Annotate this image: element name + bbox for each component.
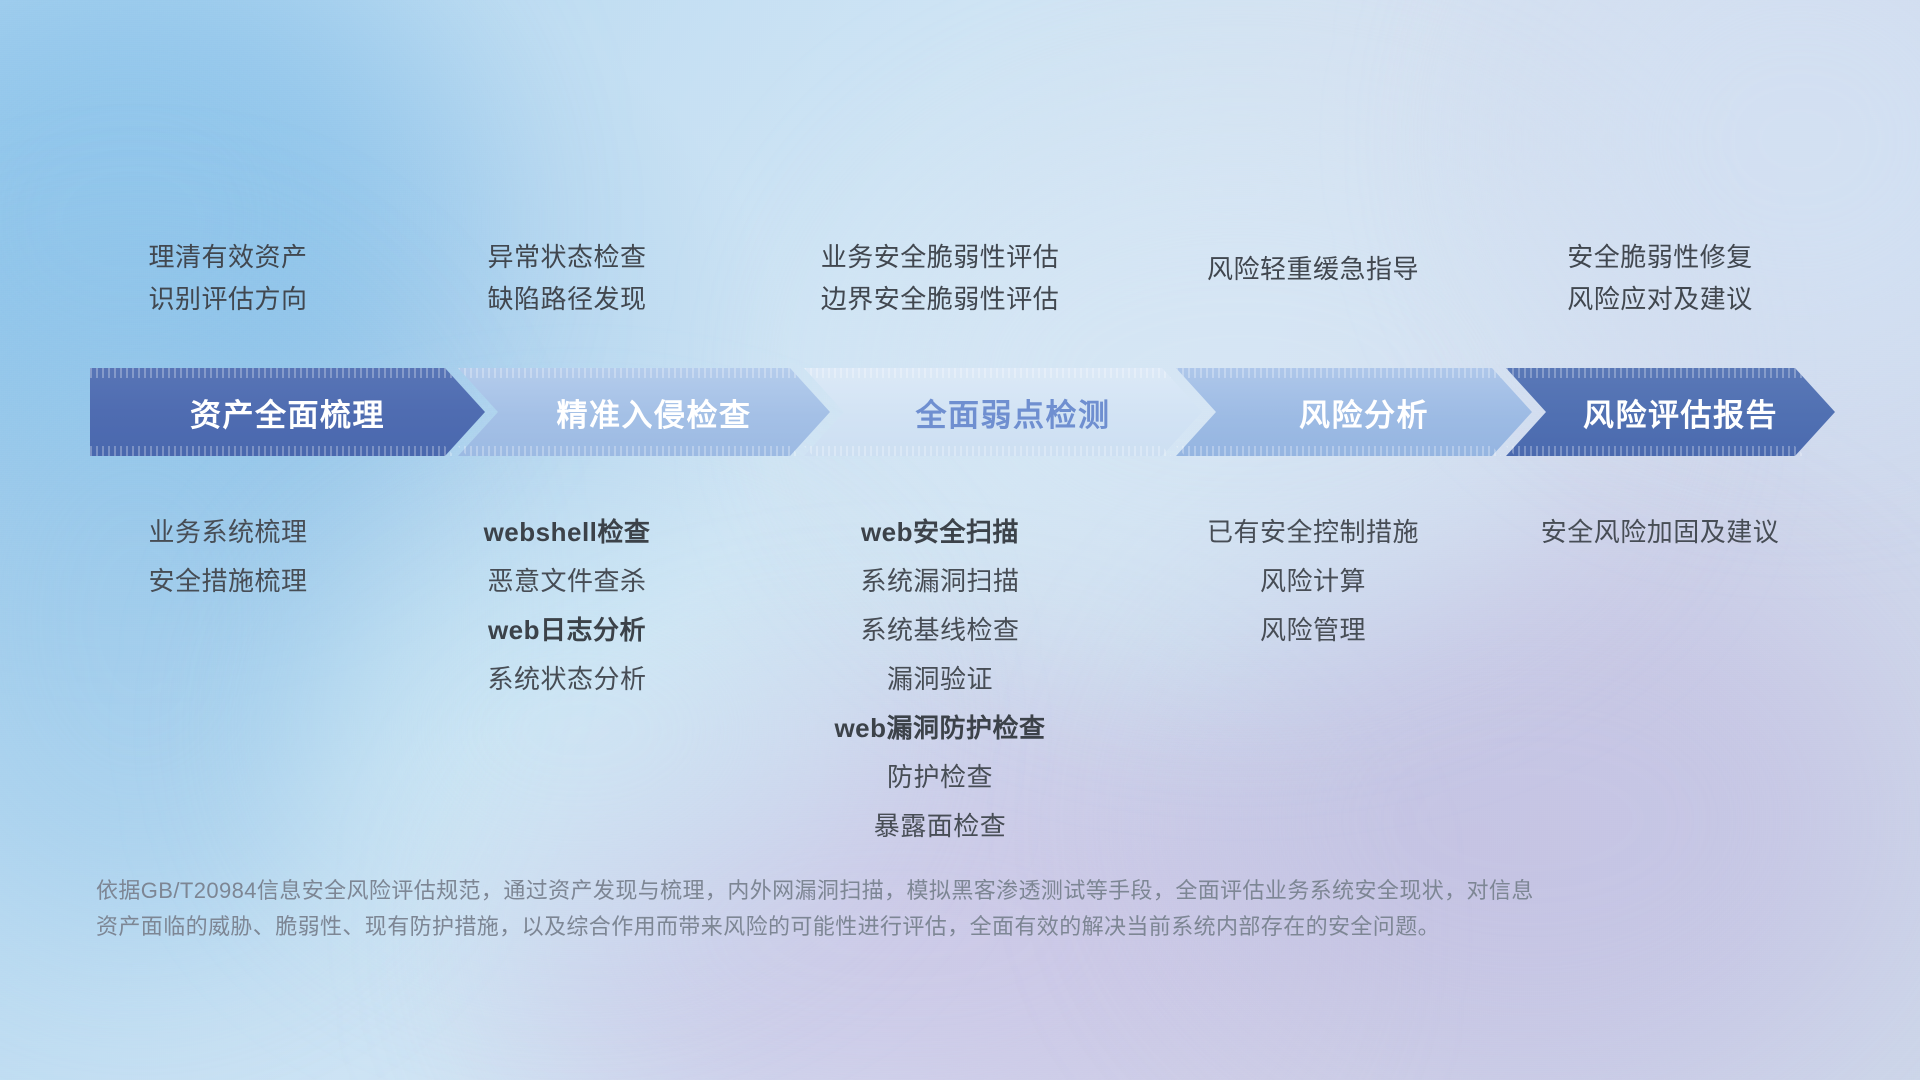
process-step-sheen-top bbox=[1176, 368, 1532, 378]
footer-line-1: 依据GB/T20984信息安全风险评估规范，通过资产发现与梳理，内外网漏洞扫描，… bbox=[96, 873, 1736, 909]
process-step-label: 资产全面梳理 bbox=[190, 390, 385, 435]
process-step-sheen-bottom bbox=[1506, 446, 1835, 456]
process-step-sheen-bottom bbox=[804, 446, 1202, 456]
detail-item: web漏洞防护检查 bbox=[700, 704, 1180, 753]
process-step-sheen-bottom bbox=[90, 446, 485, 456]
detail-item: 风险计算 bbox=[1093, 557, 1533, 606]
detail-item: 防护检查 bbox=[700, 753, 1180, 802]
process-step-sheen-top bbox=[1506, 368, 1835, 378]
detail-item: 安全风险加固及建议 bbox=[1430, 508, 1890, 557]
footer-description: 依据GB/T20984信息安全风险评估规范，通过资产发现与梳理，内外网漏洞扫描，… bbox=[96, 873, 1736, 945]
footer-line-2: 资产面临的威胁、脆弱性、现有防护措施，以及综合作用而带来风险的可能性进行评估，全… bbox=[96, 909, 1736, 945]
detail-item: 暴露面检查 bbox=[700, 802, 1180, 851]
detail-item: 风险管理 bbox=[1093, 606, 1533, 655]
process-step-label: 风险评估报告 bbox=[1583, 390, 1778, 435]
detail-item: 漏洞验证 bbox=[700, 655, 1180, 704]
process-step-label: 精准入侵检查 bbox=[557, 390, 752, 435]
bottom-list-report: 安全风险加固及建议 bbox=[1430, 508, 1890, 557]
process-step-sheen-top bbox=[804, 368, 1202, 378]
process-step-label: 风险分析 bbox=[1299, 390, 1429, 435]
process-step-sheen-top bbox=[90, 368, 485, 378]
process-step-sheen-top bbox=[458, 368, 830, 378]
process-step-label: 全面弱点检测 bbox=[916, 390, 1111, 435]
slide-canvas: 理清有效资产识别评估方向 异常状态检查缺陷路径发现 业务安全脆弱性评估边界安全脆… bbox=[0, 0, 1920, 1080]
process-step-sheen-bottom bbox=[458, 446, 830, 456]
process-step-sheen-bottom bbox=[1176, 446, 1532, 456]
